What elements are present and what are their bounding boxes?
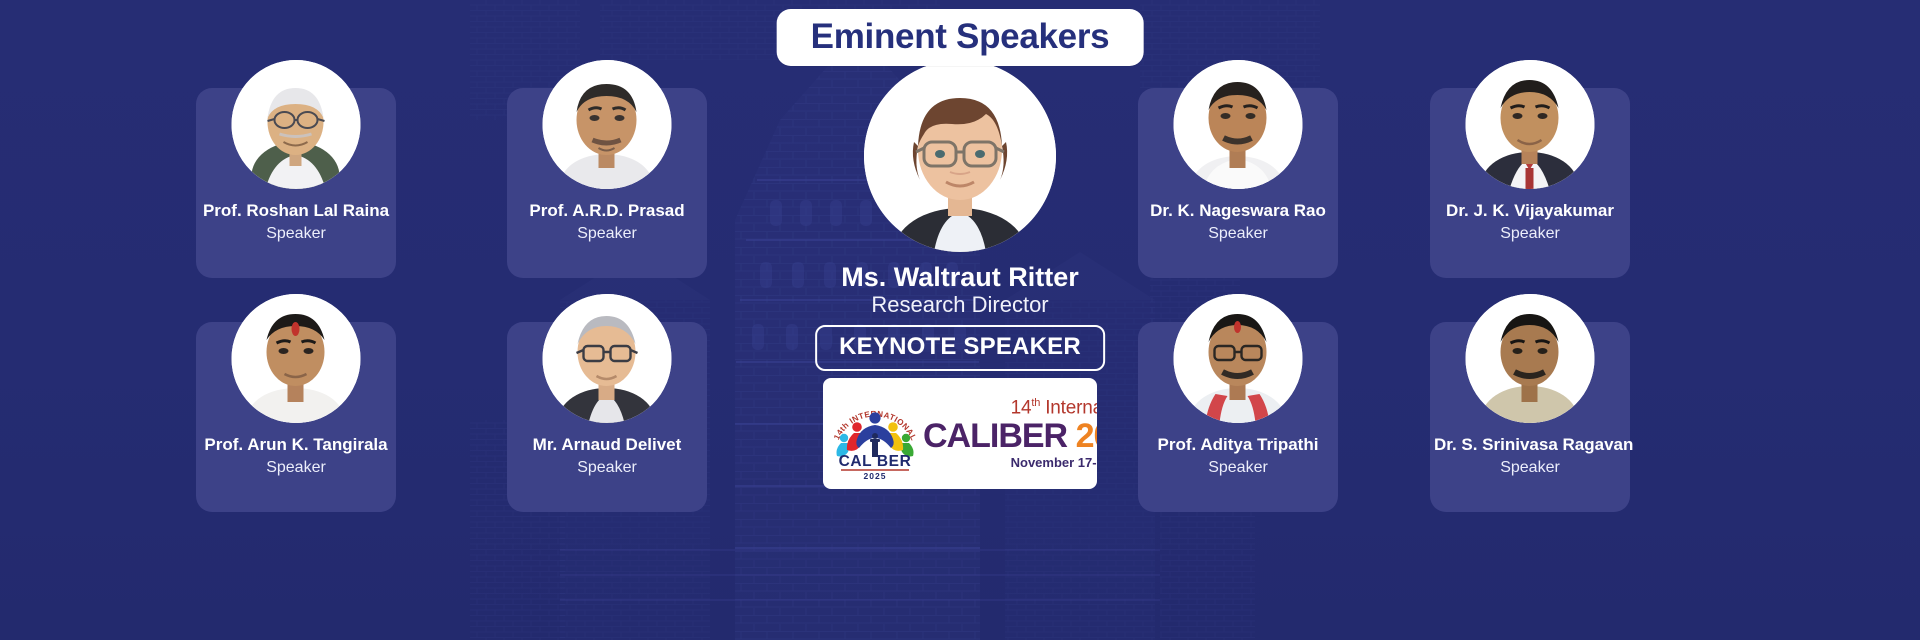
- speaker-name: Dr. J. K. Vijayakumar: [1434, 201, 1626, 221]
- speaker-card[interactable]: Prof. A.R.D. Prasad Speaker: [507, 88, 707, 278]
- speaker-card[interactable]: Prof. Arun K. Tangirala Speaker: [196, 322, 396, 512]
- avatar: [232, 294, 361, 423]
- avatar: [1174, 294, 1303, 423]
- keynote-speaker-badge: KEYNOTE SPEAKER: [815, 325, 1105, 371]
- keynote-name: Ms. Waltraut Ritter: [750, 262, 1170, 293]
- caliber-title-line: CALIBER 2025: [923, 419, 1097, 453]
- speaker-card[interactable]: Dr. S. Srinivasa Ragavan Speaker: [1430, 322, 1630, 512]
- speaker-name: Prof. Roshan Lal Raina: [200, 201, 392, 221]
- speaker-caption: Prof. Roshan Lal Raina Speaker: [196, 201, 396, 244]
- speaker-name: Prof. A.R.D. Prasad: [511, 201, 703, 221]
- avatar: [1466, 60, 1595, 189]
- speaker-caption: Prof. A.R.D. Prasad Speaker: [507, 201, 707, 244]
- caliber-title-year: 2025: [1076, 417, 1097, 455]
- speaker-name: Dr. K. Nageswara Rao: [1142, 201, 1334, 221]
- avatar: [543, 60, 672, 189]
- speaker-card[interactable]: Prof. Roshan Lal Raina Speaker: [196, 88, 396, 278]
- speaker-card[interactable]: Mr. Arnaud Delivet Speaker: [507, 322, 707, 512]
- avatar: [232, 60, 361, 189]
- avatar: [543, 294, 672, 423]
- caliber-title-name: CALIBER: [923, 417, 1067, 455]
- page-title-pill: Eminent Speakers: [777, 9, 1144, 66]
- eminent-speakers-banner: Eminent Speakers: [0, 0, 1920, 640]
- caliber-edition-suffix: th: [1031, 397, 1040, 409]
- speaker-name: Mr. Arnaud Delivet: [511, 435, 703, 455]
- speaker-role: Speaker: [511, 224, 703, 243]
- speaker-name: Dr. S. Srinivasa Ragavan: [1434, 435, 1626, 455]
- avatar: [1174, 60, 1303, 189]
- caliber-edition-number: 14: [1011, 397, 1032, 418]
- caliber-edition-line: 14th International: [923, 398, 1097, 417]
- keynote-role: Research Director: [750, 292, 1170, 318]
- speaker-role: Speaker: [1434, 224, 1626, 243]
- speaker-role: Speaker: [511, 458, 703, 477]
- speaker-caption: Mr. Arnaud Delivet Speaker: [507, 435, 707, 478]
- avatar: [1466, 294, 1595, 423]
- speaker-name: Prof. Aditya Tripathi: [1142, 435, 1334, 455]
- speaker-role: Speaker: [200, 224, 392, 243]
- speaker-role: Speaker: [1434, 458, 1626, 477]
- caliber-wordmark: 14th International CALIBER 2025 November…: [923, 398, 1097, 469]
- caliber-event-logo-card[interactable]: 14th INTERNATIONAL CALIBER: [823, 378, 1097, 489]
- caliber-edition-rest: International: [1040, 397, 1097, 418]
- speaker-caption: Dr. S. Srinivasa Ragavan Speaker: [1430, 435, 1630, 478]
- speaker-card[interactable]: Dr. J. K. Vijayakumar Speaker: [1430, 88, 1630, 278]
- svg-text:CAL BER: CAL BER: [839, 453, 912, 470]
- keynote-avatar: [864, 60, 1056, 252]
- caliber-dates: November 17-19, 2025: [923, 456, 1097, 469]
- speaker-role: Speaker: [1142, 224, 1334, 243]
- speaker-role: Speaker: [1142, 458, 1334, 477]
- speaker-caption: Prof. Arun K. Tangirala Speaker: [196, 435, 396, 478]
- keynote-speaker-block: Ms. Waltraut Ritter Research Director KE…: [750, 0, 1170, 640]
- speaker-caption: Dr. J. K. Vijayakumar Speaker: [1430, 201, 1630, 244]
- svg-text:2025: 2025: [864, 471, 887, 481]
- caliber-emblem-icon: 14th INTERNATIONAL CALIBER: [827, 386, 923, 482]
- speaker-role: Speaker: [200, 458, 392, 477]
- page-title: Eminent Speakers: [811, 19, 1110, 54]
- speaker-name: Prof. Arun K. Tangirala: [200, 435, 392, 455]
